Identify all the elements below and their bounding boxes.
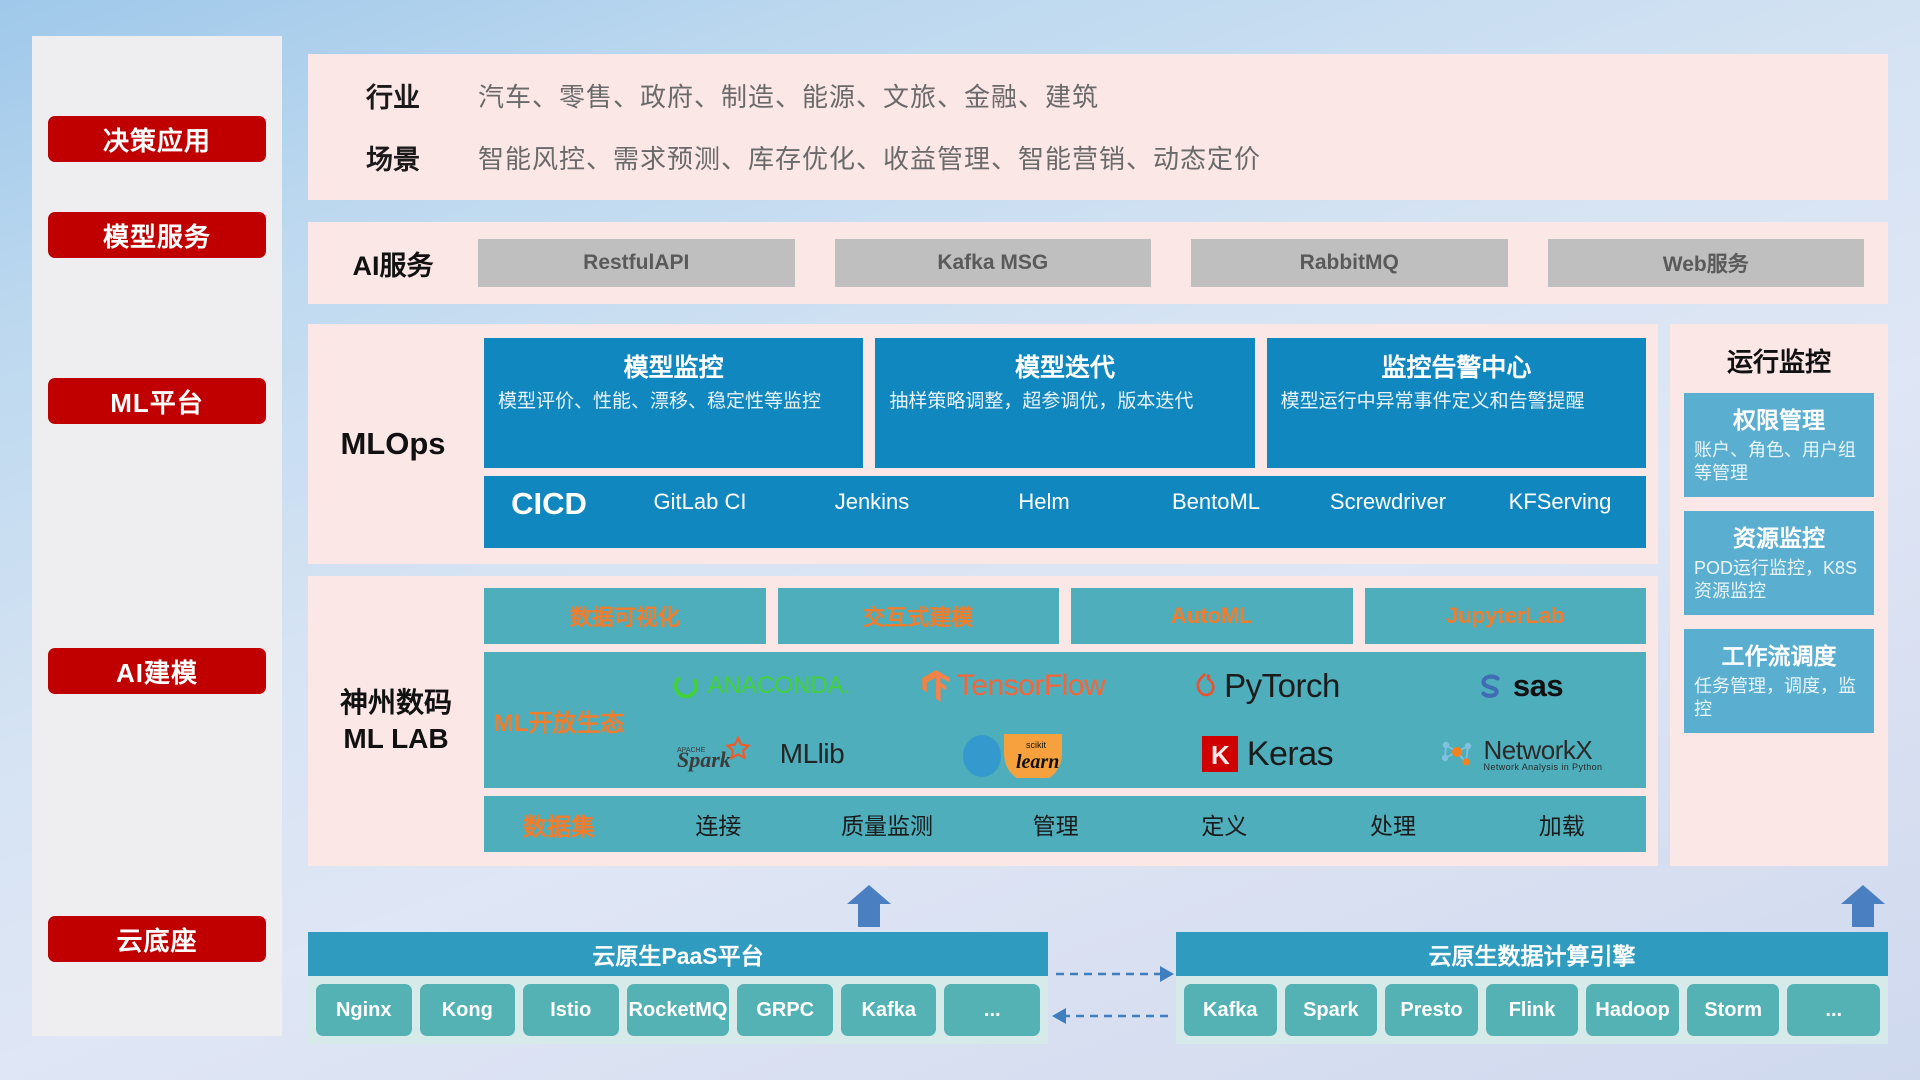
mlops-title: MLOps — [308, 324, 478, 564]
cloud-data-engine-chip-list: Kafka Spark Presto Flink Hadoop Storm ..… — [1176, 976, 1888, 1044]
tensorflow-icon — [922, 670, 950, 702]
mlops-band: MLOps 模型监控 模型评价、性能、漂移、稳定性等监控 模型迭代 抽样策略调整… — [308, 324, 1658, 564]
cloud-paas-header: 云原生PaaS平台 — [308, 932, 1048, 976]
cloud-chip-istio[interactable]: Istio — [523, 984, 619, 1036]
ai-service-band: AI服务 RestfulAPI Kafka MSG RabbitMQ Web服务 — [308, 222, 1888, 304]
run-monitor-title: 运行监控 — [1680, 342, 1878, 379]
data-chip-flink[interactable]: Flink — [1486, 984, 1579, 1036]
cicd-bar: CICD GitLab CI Jenkins Helm BentoML Scre… — [484, 476, 1646, 548]
rail-label: 云底座 — [116, 921, 197, 958]
card-desc: 模型运行中异常事件定义和告警提醒 — [1281, 390, 1632, 414]
arrow-up-icon — [1840, 884, 1886, 928]
rail-label: 决策应用 — [103, 121, 211, 158]
logo-anaconda: ANACONDA. — [671, 671, 851, 701]
data-chip-more[interactable]: ... — [1787, 984, 1880, 1036]
data-chip-hadoop[interactable]: Hadoop — [1586, 984, 1679, 1036]
data-chip-kafka[interactable]: Kafka — [1184, 984, 1277, 1036]
sas-icon — [1476, 671, 1506, 701]
card-desc: 任务管理，调度，监控 — [1694, 675, 1864, 722]
ai-service-title: AI服务 — [308, 244, 478, 283]
networkx-icon — [1437, 737, 1477, 771]
cloud-chip-kafka[interactable]: Kafka — [841, 984, 937, 1036]
industry-value: 汽车、零售、政府、制造、能源、文旅、金融、建筑 — [478, 77, 1099, 114]
scenario-value: 智能风控、需求预测、库存优化、收益管理、智能营销、动态定价 — [478, 139, 1261, 176]
anaconda-icon — [671, 671, 701, 701]
dataset-item-manage[interactable]: 管理 — [971, 807, 1140, 841]
ml-ecosystem-row: ML开放生态 ANACONDA. TensorFlow — [484, 652, 1646, 788]
cicd-item-jenkins[interactable]: Jenkins — [786, 486, 958, 518]
logo-label: Keras — [1247, 735, 1333, 774]
monitor-card-permission[interactable]: 权限管理 账户、角色、用户组等管理 — [1684, 393, 1874, 497]
svg-text:learn: learn — [1016, 751, 1059, 773]
ml-lab-title: 神州数码 ML LAB — [308, 576, 484, 866]
ml-ecosystem-logo-grid: ANACONDA. TensorFlow PyTorch — [634, 652, 1646, 788]
rail-label: 模型服务 — [103, 217, 211, 254]
dataset-row: 数据集 连接 质量监测 管理 定义 处理 加载 — [484, 796, 1646, 852]
card-title: 工作流调度 — [1694, 637, 1864, 671]
logo-label: TensorFlow — [957, 669, 1105, 703]
cicd-item-bentoml[interactable]: BentoML — [1130, 486, 1302, 518]
bidirectional-link — [1052, 956, 1176, 1042]
rail-item-cloud-base[interactable]: 云底座 — [48, 916, 266, 962]
rail-item-ai-modeling[interactable]: AI建模 — [48, 648, 266, 694]
cicd-label: CICD — [484, 486, 614, 522]
logo-tensorflow: TensorFlow — [922, 669, 1105, 703]
ai-modeling-band: 神州数码 ML LAB 数据可视化 交互式建模 AutoML JupyterLa… — [308, 576, 1658, 866]
rail-item-model-service[interactable]: 模型服务 — [48, 212, 266, 258]
scenario-key: 场景 — [308, 138, 478, 177]
cloud-paas-group: 云原生PaaS平台 Nginx Kong Istio RocketMQ GRPC… — [308, 932, 1048, 1044]
ai-service-chip-restfulapi[interactable]: RestfulAPI — [478, 239, 795, 287]
logo-label: MLlib — [780, 738, 844, 770]
dataset-item-load[interactable]: 加载 — [1477, 807, 1646, 841]
card-title: 监控告警中心 — [1281, 348, 1632, 384]
spark-icon: APACHE Spark — [677, 736, 773, 772]
run-monitor-panel: 运行监控 权限管理 账户、角色、用户组等管理 资源监控 POD运行监控，K8S资… — [1670, 324, 1888, 866]
cloud-data-engine-group: 云原生数据计算引擎 Kafka Spark Presto Flink Hadoo… — [1176, 932, 1888, 1044]
monitor-card-resource[interactable]: 资源监控 POD运行监控，K8S资源监控 — [1684, 511, 1874, 615]
ml-lab-title-line1: 神州数码 — [340, 685, 452, 721]
ai-service-chip-kafka-msg[interactable]: Kafka MSG — [835, 239, 1152, 287]
card-title: 权限管理 — [1694, 401, 1864, 435]
networkx-wordmark: NetworkX Network Analysis in Python — [1484, 737, 1603, 772]
rail-item-decision-app[interactable]: 决策应用 — [48, 116, 266, 162]
cloud-chip-grpc[interactable]: GRPC — [737, 984, 833, 1036]
dataset-item-quality[interactable]: 质量监测 — [803, 807, 972, 841]
logo-scikit-learn: scikit learn — [960, 730, 1068, 778]
cicd-item-helm[interactable]: Helm — [958, 486, 1130, 518]
dataset-item-define[interactable]: 定义 — [1140, 807, 1309, 841]
cloud-data-engine-header: 云原生数据计算引擎 — [1176, 932, 1888, 976]
svg-text:K: K — [1211, 740, 1230, 770]
layer-rail: 决策应用 模型服务 ML平台 AI建模 云底座 — [32, 36, 282, 1036]
mlops-card-alert-center[interactable]: 监控告警中心 模型运行中异常事件定义和告警提醒 — [1267, 338, 1646, 468]
industry-scenario-band: 行业 汽车、零售、政府、制造、能源、文旅、金融、建筑 场景 智能风控、需求预测、… — [308, 54, 1888, 200]
tool-chip-data-visualization[interactable]: 数据可视化 — [484, 588, 766, 644]
rail-label: ML平台 — [110, 383, 204, 420]
card-title: 资源监控 — [1694, 519, 1864, 553]
cicd-item-gitlab-ci[interactable]: GitLab CI — [614, 486, 786, 518]
ai-service-chip-web-service[interactable]: Web服务 — [1548, 239, 1865, 287]
mlops-card-model-monitoring[interactable]: 模型监控 模型评价、性能、漂移、稳定性等监控 — [484, 338, 863, 468]
scenario-row: 场景 智能风控、需求预测、库存优化、收益管理、智能营销、动态定价 — [308, 126, 1888, 188]
industry-key: 行业 — [308, 76, 478, 115]
cloud-paas-chip-list: Nginx Kong Istio RocketMQ GRPC Kafka ... — [308, 976, 1048, 1044]
tool-chip-jupyterlab[interactable]: JupyterLab — [1365, 588, 1647, 644]
logo-keras: K Keras — [1200, 734, 1333, 774]
tool-chip-automl[interactable]: AutoML — [1071, 588, 1353, 644]
ml-lab-title-line2: ML LAB — [343, 721, 448, 757]
tool-chip-interactive-modeling[interactable]: 交互式建模 — [778, 588, 1060, 644]
ml-ecosystem-label: ML开放生态 — [484, 703, 634, 738]
logo-label: NetworkX — [1484, 737, 1603, 763]
industry-row: 行业 汽车、零售、政府、制造、能源、文旅、金融、建筑 — [308, 64, 1888, 126]
dataset-label: 数据集 — [484, 807, 634, 842]
networkx-tagline: Network Analysis in Python — [1484, 763, 1603, 772]
card-desc: POD运行监控，K8S资源监控 — [1694, 557, 1864, 604]
data-chip-presto[interactable]: Presto — [1385, 984, 1478, 1036]
cloud-chip-more[interactable]: ... — [944, 984, 1040, 1036]
rail-item-ml-platform[interactable]: ML平台 — [48, 378, 266, 424]
data-chip-storm[interactable]: Storm — [1687, 984, 1780, 1036]
logo-sas: sas — [1476, 668, 1563, 704]
mlops-card-model-iteration[interactable]: 模型迭代 抽样策略调整，超参调优，版本迭代 — [875, 338, 1254, 468]
card-desc: 抽样策略调整，超参调优，版本迭代 — [889, 390, 1240, 414]
data-chip-spark[interactable]: Spark — [1285, 984, 1378, 1036]
cicd-item-screwdriver[interactable]: Screwdriver — [1302, 486, 1474, 518]
rail-label: AI建模 — [116, 653, 198, 690]
cloud-chip-kong[interactable]: Kong — [420, 984, 516, 1036]
dataset-item-connect[interactable]: 连接 — [634, 807, 803, 841]
card-desc: 账户、角色、用户组等管理 — [1694, 439, 1864, 486]
arrow-up-to-paas — [846, 884, 892, 933]
link-arrow-right-head — [1160, 966, 1174, 982]
mlops-card-list: 模型监控 模型评价、性能、漂移、稳定性等监控 模型迭代 抽样策略调整，超参调优，… — [484, 338, 1646, 468]
ai-service-chip-rabbitmq[interactable]: RabbitMQ — [1191, 239, 1508, 287]
cloud-chip-nginx[interactable]: Nginx — [316, 984, 412, 1036]
ai-service-chip-list: RestfulAPI Kafka MSG RabbitMQ Web服务 — [478, 239, 1888, 287]
logo-networkx: NetworkX Network Analysis in Python — [1437, 737, 1603, 772]
logo-label: PyTorch — [1224, 667, 1340, 705]
monitor-card-workflow[interactable]: 工作流调度 任务管理，调度，监控 — [1684, 629, 1874, 733]
link-arrow-left-head — [1052, 1008, 1066, 1024]
pytorch-icon — [1193, 671, 1217, 701]
cloud-chip-rocketmq[interactable]: RocketMQ — [627, 984, 730, 1036]
arrow-up-to-data-engine — [1840, 884, 1886, 933]
svg-text:Spark: Spark — [677, 747, 731, 772]
card-title: 模型监控 — [498, 348, 849, 384]
logo-label: sas — [1513, 668, 1563, 704]
keras-icon: K — [1200, 734, 1240, 774]
cicd-item-kfserving[interactable]: KFServing — [1474, 486, 1646, 518]
card-title: 模型迭代 — [889, 348, 1240, 384]
logo-pytorch: PyTorch — [1193, 667, 1340, 705]
dataset-item-process[interactable]: 处理 — [1309, 807, 1478, 841]
arrow-up-icon — [846, 884, 892, 928]
logo-label: ANACONDA. — [708, 672, 851, 700]
logo-spark-mllib: APACHE Spark MLlib — [677, 736, 844, 772]
modeling-tool-list: 数据可视化 交互式建模 AutoML JupyterLab — [484, 588, 1646, 644]
svg-text:scikit: scikit — [1026, 740, 1046, 750]
scikit-learn-icon: scikit learn — [960, 730, 1068, 778]
card-desc: 模型评价、性能、漂移、稳定性等监控 — [498, 390, 849, 414]
